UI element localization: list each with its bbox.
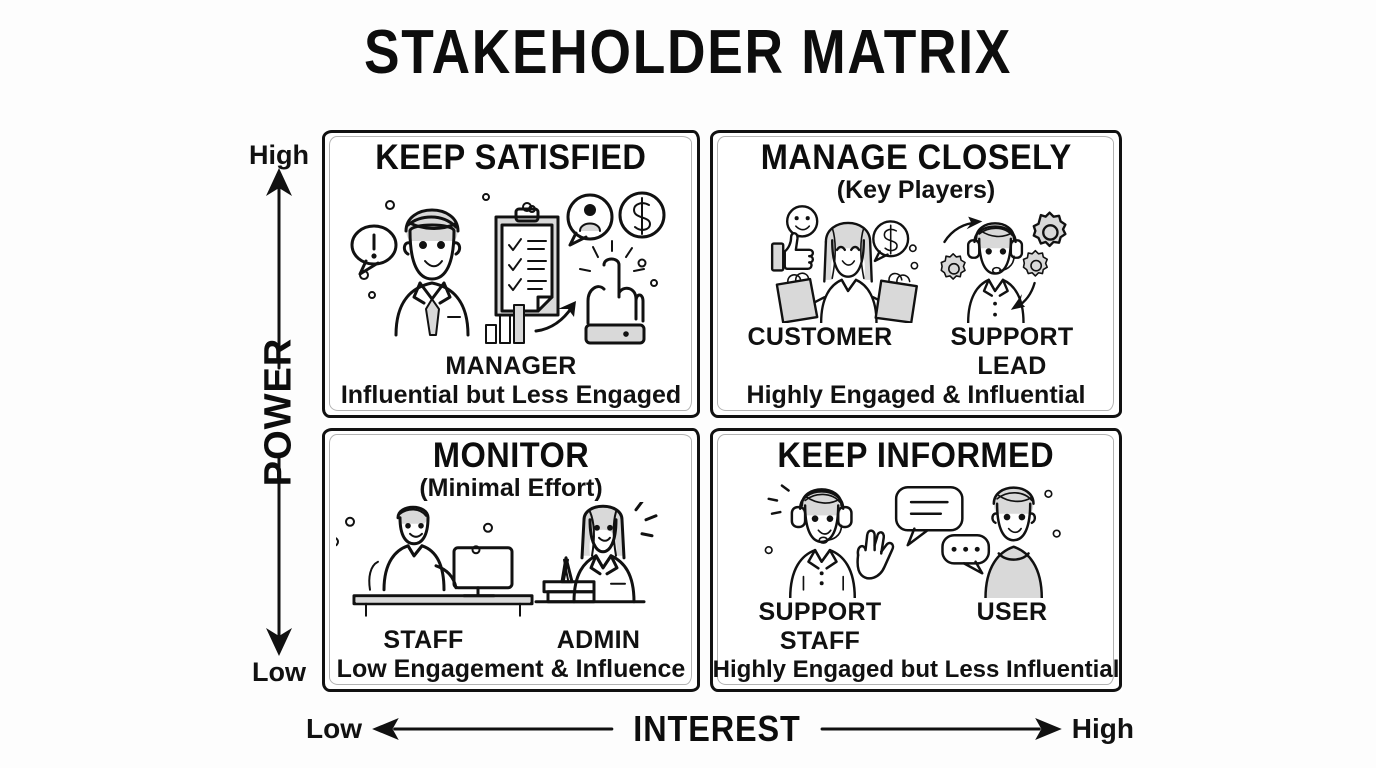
page-title: STAKEHOLDER MATRIX bbox=[96, 22, 1279, 84]
persona-manager: MANAGER bbox=[445, 352, 576, 381]
alert-speech-bubble-icon bbox=[352, 226, 396, 274]
persona-support-staff: SUPPORT STAFF bbox=[724, 598, 916, 656]
quadrant-illustration-keep-satisfied bbox=[336, 176, 686, 352]
shopping-bag-icon bbox=[876, 274, 917, 323]
x-axis-high-label: High bbox=[1066, 713, 1140, 745]
sparkle-icon bbox=[636, 502, 656, 536]
user-avatar-icon bbox=[986, 487, 1042, 598]
dots-speech-bubble-icon bbox=[942, 535, 988, 573]
y-axis-power: High POWER Low bbox=[236, 132, 322, 692]
quadrant-caption: Highly Engaged but Less Influential bbox=[713, 657, 1120, 682]
gear-icon bbox=[1034, 213, 1066, 246]
quadrant-heading: MANAGE CLOSELY bbox=[761, 140, 1072, 176]
quadrant-monitor[interactable]: MONITOR (Minimal Effort) bbox=[322, 428, 700, 692]
staff-at-desk-icon bbox=[354, 507, 532, 616]
stakeholder-matrix-canvas: STAKEHOLDER MATRIX High POWER Low Low IN… bbox=[0, 0, 1376, 768]
manager-avatar-icon bbox=[396, 209, 468, 335]
x-axis-right-arrow-icon bbox=[820, 714, 1066, 744]
x-axis-interest: Low INTEREST High bbox=[300, 698, 1140, 760]
quadrant-caption: Low Engagement & Influence bbox=[337, 656, 686, 682]
smiley-face-icon bbox=[787, 207, 817, 237]
y-axis-label: POWER bbox=[258, 338, 301, 487]
quadrant-subheading: (Minimal Effort) bbox=[419, 475, 602, 503]
quadrant-caption: Influential but Less Engaged bbox=[341, 382, 681, 408]
quadrant-illustration-keep-informed bbox=[724, 474, 1108, 598]
x-axis-low-label: Low bbox=[300, 713, 368, 745]
pointing-hand-icon bbox=[580, 241, 644, 343]
quadrant-heading: MONITOR bbox=[433, 438, 589, 474]
persona-support-lead: SUPPORT LEAD bbox=[916, 323, 1108, 381]
quadrant-illustration-manage-closely bbox=[724, 204, 1108, 323]
dollar-speech-bubble-icon bbox=[873, 222, 908, 262]
quadrant-illustration-monitor bbox=[336, 502, 686, 626]
persona-customer: CUSTOMER bbox=[724, 323, 916, 381]
persona-admin: ADMIN bbox=[511, 626, 686, 655]
gear-icon bbox=[941, 254, 965, 279]
quadrant-keep-satisfied[interactable]: KEEP SATISFIED bbox=[322, 130, 700, 418]
person-bubble-icon bbox=[568, 195, 612, 245]
waving-hand-icon bbox=[857, 530, 893, 579]
y-axis-low-label: Low bbox=[236, 657, 322, 688]
x-axis-label: INTEREST bbox=[624, 708, 809, 750]
gear-icon bbox=[1023, 251, 1047, 276]
persona-row: STAFF ADMIN bbox=[336, 626, 686, 655]
persona-row: CUSTOMER SUPPORT LEAD bbox=[724, 323, 1108, 381]
dollar-coin-icon bbox=[620, 193, 664, 237]
quadrant-heading: KEEP INFORMED bbox=[778, 438, 1055, 474]
quadrant-keep-informed[interactable]: KEEP INFORMED bbox=[710, 428, 1122, 692]
quadrant-manage-closely[interactable]: MANAGE CLOSELY (Key Players) bbox=[710, 130, 1122, 418]
thumbs-up-icon bbox=[772, 233, 813, 270]
sparkle-icon bbox=[769, 485, 789, 513]
quadrant-subheading: (Key Players) bbox=[837, 177, 995, 205]
x-axis-left-arrow-icon bbox=[368, 714, 614, 744]
persona-user: USER bbox=[916, 598, 1108, 656]
quadrant-heading: KEEP SATISFIED bbox=[375, 140, 646, 176]
persona-staff: STAFF bbox=[336, 626, 511, 655]
support-staff-headset-icon bbox=[790, 489, 855, 598]
shopping-bag-icon bbox=[777, 273, 817, 322]
clipboard-checklist-icon bbox=[496, 203, 558, 315]
admin-avatar-icon bbox=[536, 506, 644, 602]
quadrant-caption: Highly Engaged & Influential bbox=[747, 382, 1086, 408]
persona-row: MANAGER bbox=[336, 352, 686, 381]
matrix-grid: KEEP SATISFIED bbox=[322, 130, 1122, 692]
persona-row: SUPPORT STAFF USER bbox=[724, 598, 1108, 656]
